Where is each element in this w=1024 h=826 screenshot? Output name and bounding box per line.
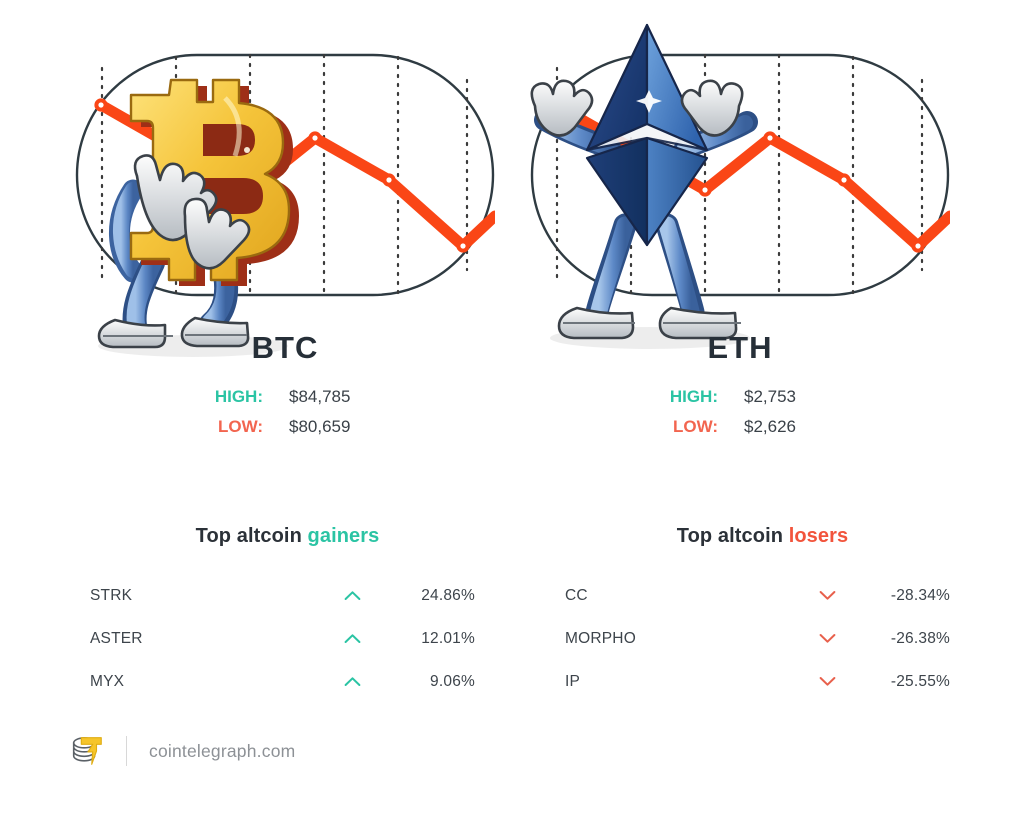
chevron-up-icon [325, 676, 380, 687]
chevron-down-icon [800, 633, 855, 644]
losers-title-prefix: Top altcoin [677, 525, 789, 547]
btc-high-low: HIGH: $84,785 LOW: $80,659 [50, 382, 520, 442]
altcoin-gainers-column: Top altcoin gainers STRK 24.86% ASTER 12… [90, 525, 485, 703]
altcoin-symbol: CC [565, 587, 800, 605]
eth-high-low: HIGH: $2,753 LOW: $2,626 [505, 382, 975, 442]
table-row[interactable]: ASTER 12.01% [90, 617, 485, 660]
altcoin-symbol: STRK [90, 587, 325, 605]
btc-high-label: HIGH: [171, 382, 263, 412]
altcoin-losers-column: Top altcoin losers CC -28.34% MORPHO -26… [565, 525, 960, 703]
eth-high-row: HIGH: $2,753 [505, 382, 975, 412]
btc-chart [75, 50, 495, 300]
altcoin-change: 12.01% [380, 630, 485, 648]
altcoin-symbol: MORPHO [565, 630, 800, 648]
chevron-up-icon [325, 590, 380, 601]
btc-price-markers [96, 100, 467, 250]
coin-ticker-btc: BTC [50, 330, 520, 366]
btc-low-label: LOW: [171, 412, 263, 442]
chart-frame [77, 55, 493, 295]
table-row[interactable]: MYX 9.06% [90, 660, 485, 703]
losers-title: Top altcoin losers [565, 525, 960, 548]
crypto-market-summary-card: BTC HIGH: $84,785 LOW: $80,659 [0, 0, 1024, 826]
eth-chart [530, 50, 950, 300]
losers-title-accent: losers [789, 525, 849, 547]
eth-price-markers [551, 100, 922, 250]
footer: cointelegraph.com [68, 730, 295, 772]
table-row[interactable]: CC -28.34% [565, 574, 960, 617]
chart-gridlines [102, 55, 467, 295]
altcoin-tables: Top altcoin gainers STRK 24.86% ASTER 12… [0, 525, 1024, 705]
altcoin-symbol: MYX [90, 673, 325, 691]
altcoin-change: -25.55% [855, 673, 960, 691]
btc-high-row: HIGH: $84,785 [50, 382, 520, 412]
eth-high-label: HIGH: [626, 382, 718, 412]
coin-panel-eth: ETH HIGH: $2,753 LOW: $2,626 [505, 0, 975, 480]
chart-frame [532, 55, 948, 295]
footer-site-url: cointelegraph.com [149, 741, 295, 762]
eth-price-line [556, 105, 950, 246]
coin-ticker-eth: ETH [505, 330, 975, 366]
altcoin-symbol: IP [565, 673, 800, 691]
altcoin-change: -26.38% [855, 630, 960, 648]
chevron-down-icon [800, 590, 855, 601]
gainers-title: Top altcoin gainers [90, 525, 485, 548]
btc-chart-svg [75, 50, 495, 300]
gainers-title-accent: gainers [308, 525, 380, 547]
eth-low-value: $2,626 [718, 412, 854, 442]
coin-panel-btc: BTC HIGH: $84,785 LOW: $80,659 [50, 0, 520, 480]
table-row[interactable]: IP -25.55% [565, 660, 960, 703]
coin-panels: BTC HIGH: $84,785 LOW: $80,659 [0, 0, 1024, 480]
eth-chart-svg [530, 50, 950, 300]
gainers-title-prefix: Top altcoin [196, 525, 308, 547]
chevron-up-icon [325, 633, 380, 644]
btc-low-row: LOW: $80,659 [50, 412, 520, 442]
altcoin-change: -28.34% [855, 587, 960, 605]
footer-divider [126, 736, 127, 766]
altcoin-change: 9.06% [380, 673, 485, 691]
chevron-down-icon [800, 676, 855, 687]
btc-price-line [101, 105, 495, 246]
eth-high-value: $2,753 [718, 382, 854, 412]
table-row[interactable]: MORPHO -26.38% [565, 617, 960, 660]
eth-low-label: LOW: [626, 412, 718, 442]
altcoin-symbol: ASTER [90, 630, 325, 648]
btc-low-value: $80,659 [263, 412, 399, 442]
altcoin-change: 24.86% [380, 587, 485, 605]
chart-gridlines [557, 55, 922, 295]
cointelegraph-logo-icon [68, 732, 106, 770]
eth-low-row: LOW: $2,626 [505, 412, 975, 442]
table-row[interactable]: STRK 24.86% [90, 574, 485, 617]
btc-high-value: $84,785 [263, 382, 399, 412]
